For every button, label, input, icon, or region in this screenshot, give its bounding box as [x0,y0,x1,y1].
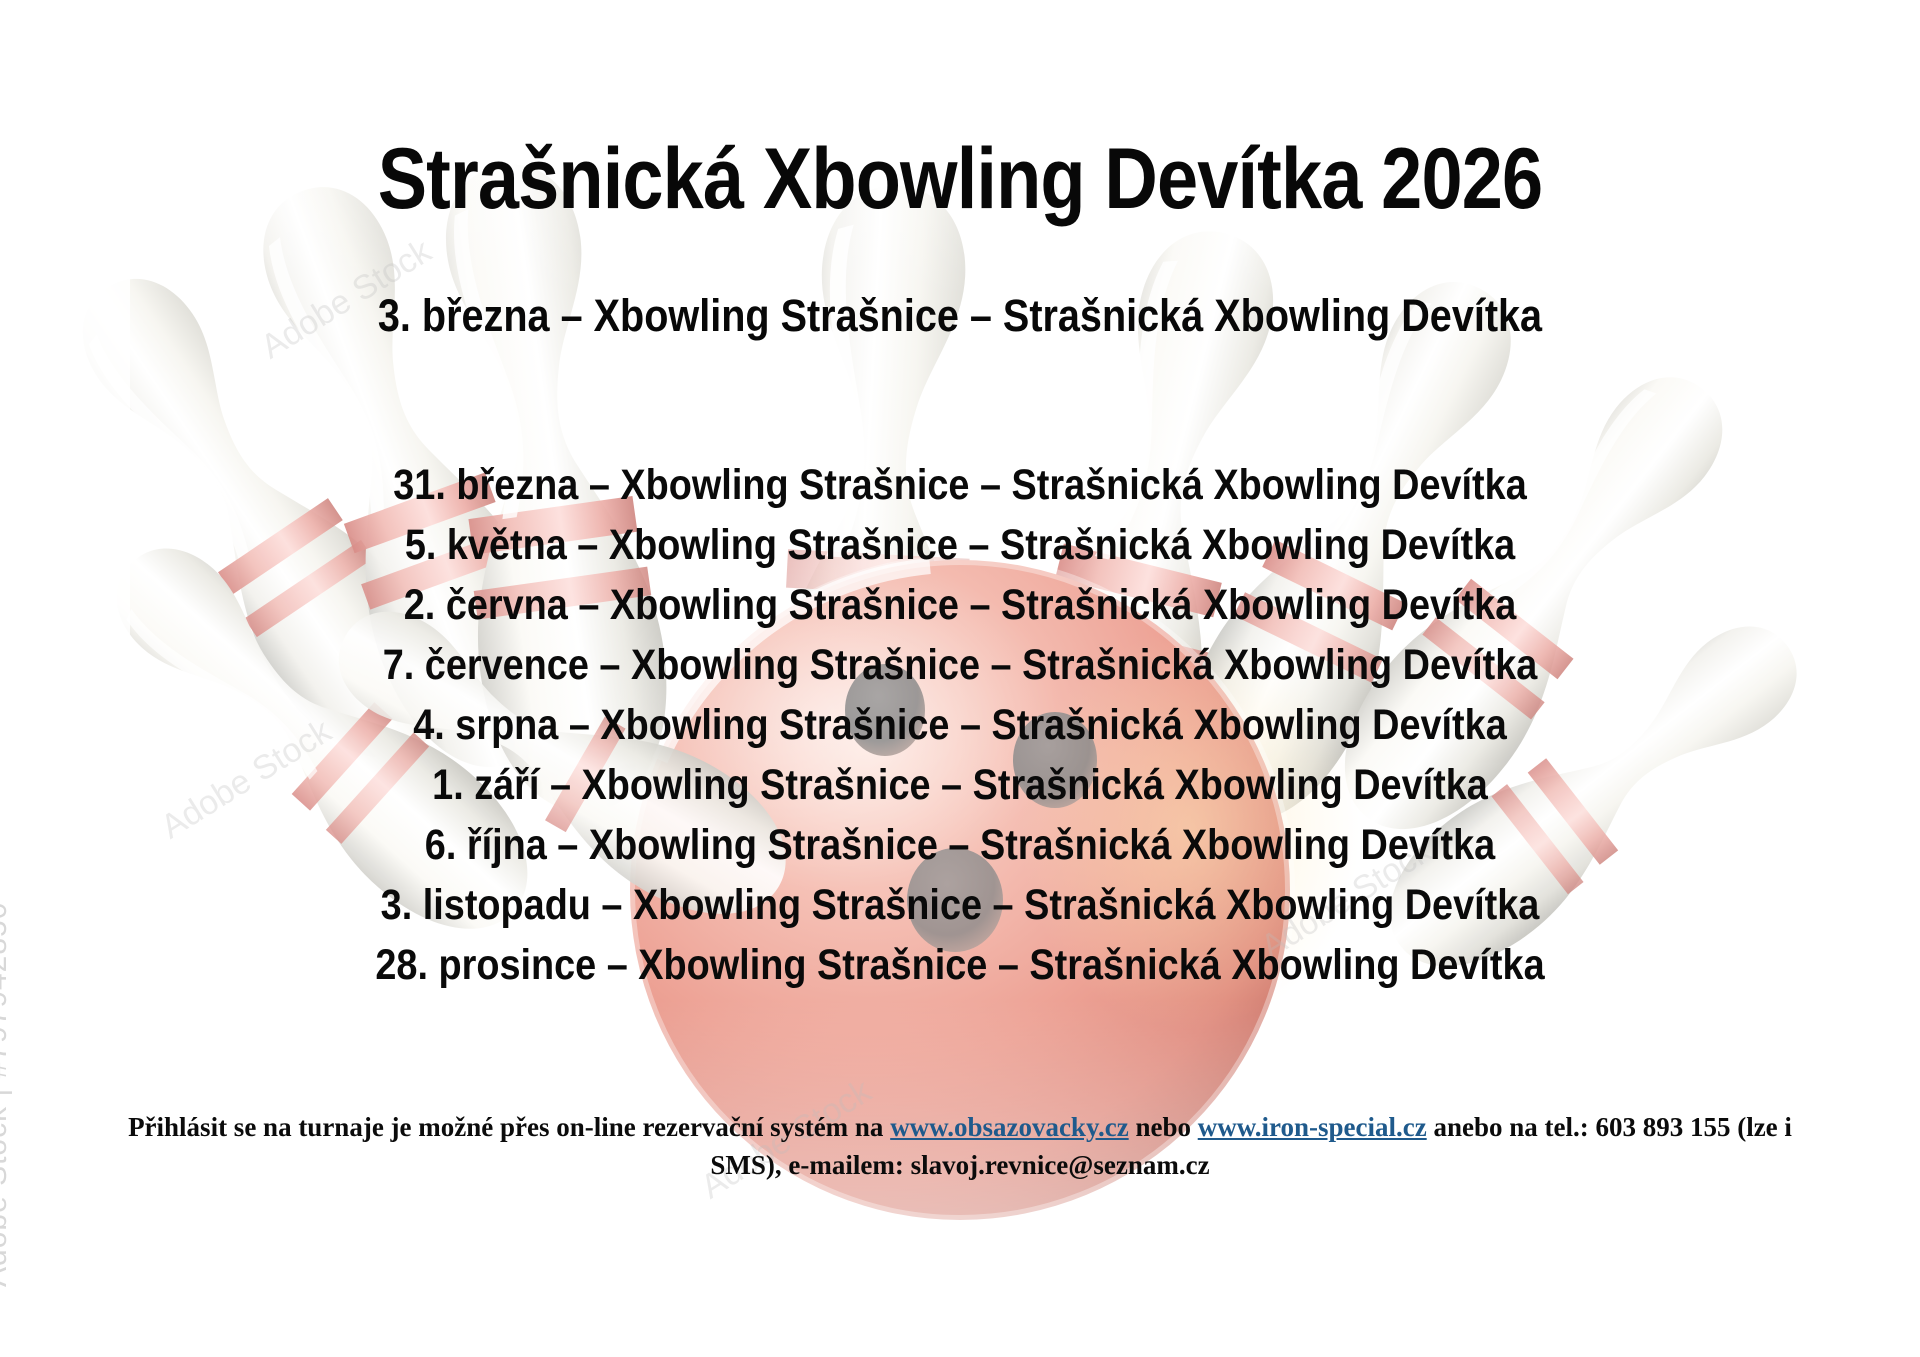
link-ironspecial-part2[interactable]: special.cz [1318,1112,1427,1142]
contact-footer: Přihlásit se na turnaje je možné přes on… [100,1108,1820,1184]
list-item: 7. července – Xbowling Strašnice – Straš… [115,635,1805,695]
list-item: 6. října – Xbowling Strašnice – Strašnic… [115,815,1805,875]
lead-event-line: 3. března – Xbowling Strašnice – Strašni… [115,293,1805,338]
list-item: 4. srpna – Xbowling Strašnice – Strašnic… [115,695,1805,755]
link-ironspecial-part1[interactable]: www.iron- [1198,1112,1318,1142]
list-item: 28. prosince – Xbowling Strašnice – Stra… [115,935,1805,995]
footer-text-intro: Přihlásit se na turnaje je možné přes on… [128,1112,890,1142]
list-item: 3. listopadu – Xbowling Strašnice – Stra… [115,875,1805,935]
page-title: Strašnická Xbowling Devítka 2026 [134,136,1785,222]
adobe-stock-watermark: Adobe Stock | #797942850 [0,902,14,1287]
list-item: 1. září – Xbowling Strašnice – Strašnick… [115,755,1805,815]
poster-content: Strašnická Xbowling Devítka 2026 3. břez… [0,0,1920,1357]
list-item: 2. června – Xbowling Strašnice – Strašni… [115,575,1805,635]
poster-canvas: Adobe Stock Adobe Stock Adobe Stock Adob… [0,0,1920,1357]
link-obsazovacky[interactable]: www.obsazovacky.cz [890,1112,1129,1142]
list-item: 5. května – Xbowling Strašnice – Strašni… [115,515,1805,575]
list-item: 31. března – Xbowling Strašnice – Strašn… [115,455,1805,515]
event-date-list: 31. března – Xbowling Strašnice – Strašn… [0,455,1920,995]
footer-text-or: nebo [1129,1112,1198,1142]
